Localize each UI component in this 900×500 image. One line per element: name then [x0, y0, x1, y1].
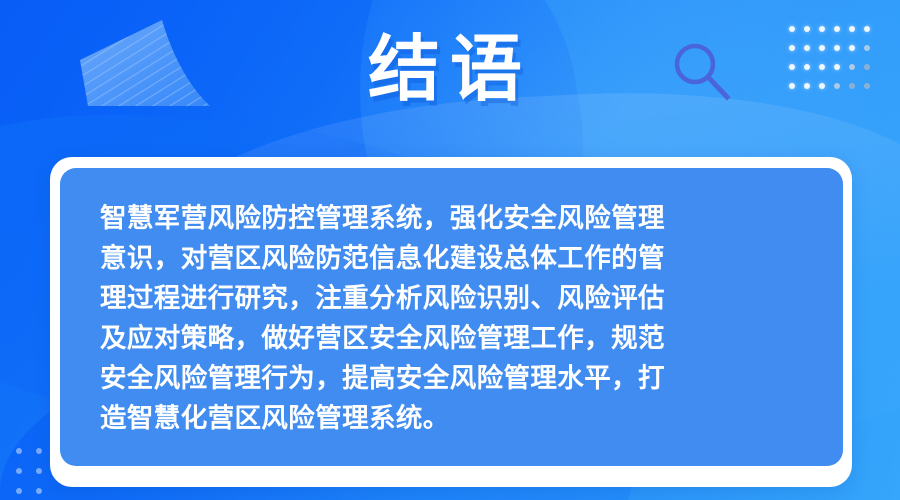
dot: [849, 26, 855, 32]
content-card-inner: 智慧军营风险防控管理系统，强化安全风险管理 意识，对营区风险防范信息化建设总体工…: [60, 168, 843, 466]
slide-canvas: 结语 智慧军营风险防控管理系统，强化安全风险管理 意识，对营区风险防范信息化建设…: [0, 0, 900, 500]
content-card: 智慧军营风险防控管理系统，强化安全风险管理 意识，对营区风险防范信息化建设总体工…: [50, 157, 852, 487]
dot: [16, 488, 22, 494]
dot: [36, 448, 42, 454]
dot: [36, 488, 42, 494]
page-title: 结语: [0, 34, 900, 106]
dot: [16, 468, 22, 474]
dot: [819, 26, 825, 32]
dot: [36, 468, 42, 474]
dot: [864, 26, 870, 32]
dot: [804, 26, 810, 32]
dot-grid-bottom-left: [16, 448, 42, 494]
dot: [834, 26, 840, 32]
dot: [789, 26, 795, 32]
dot: [16, 448, 22, 454]
body-paragraph: 智慧军营风险防控管理系统，强化安全风险管理 意识，对营区风险防范信息化建设总体工…: [100, 198, 819, 438]
